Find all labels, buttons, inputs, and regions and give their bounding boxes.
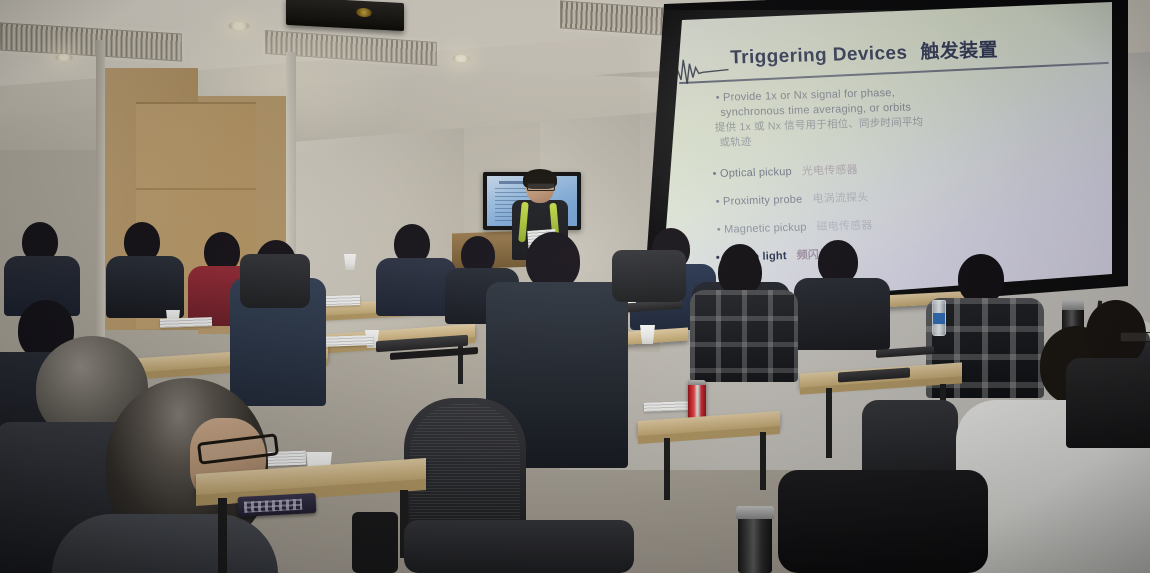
thermos-cap <box>736 506 774 519</box>
attendee-torso <box>52 514 278 573</box>
bullet-text-cn: 磁电传感器 <box>816 220 872 234</box>
wall-corner <box>96 40 105 340</box>
attendee-torso <box>1066 358 1150 448</box>
desk-leg <box>826 388 832 458</box>
paper-stack <box>160 317 212 328</box>
bullet-text: Magnetic pickup <box>724 221 807 235</box>
soda-can-top <box>688 380 706 385</box>
attendee-head <box>958 254 1004 304</box>
projector-lens-icon <box>356 8 372 18</box>
bullet-optical-pickup: • Optical pickup光电传感器 <box>712 163 858 182</box>
slide-title-en: Triggering Devices <box>730 43 908 69</box>
bullet-proximity-probe: • Proximity probe电涡流探头 <box>715 191 868 210</box>
paper-cup <box>640 325 655 344</box>
attendee-torso <box>376 258 456 316</box>
waveform-icon <box>672 53 729 89</box>
bullet-text-cn: 或轨迹 <box>719 136 752 149</box>
attendee-torso <box>794 278 890 350</box>
bullet-text-cn: 电涡流探头 <box>812 192 868 206</box>
downlight-icon <box>228 22 250 30</box>
downlight-icon <box>452 55 470 62</box>
bullet-text: Proximity probe <box>723 194 803 208</box>
door-seam <box>136 188 256 190</box>
attendee-head <box>718 248 762 296</box>
bullet-1-line-4: 或轨迹 <box>719 135 752 151</box>
thermos-flask <box>738 514 772 573</box>
glasses-icon <box>527 183 555 191</box>
glasses-icon <box>1120 332 1150 342</box>
paper-stack <box>644 401 692 412</box>
attendee-torso-plaid <box>690 290 798 382</box>
calculator-keys <box>244 499 302 513</box>
office-chair-arm <box>352 512 398 573</box>
office-chair <box>612 250 686 302</box>
slide-title-cn: 触发装置 <box>920 40 998 63</box>
desk-leg <box>218 498 227 573</box>
slide-title: Triggering Devices触发装置 <box>730 35 999 69</box>
thermos-cap <box>1062 300 1084 310</box>
desk-leg <box>664 438 670 500</box>
desk-leg <box>760 432 766 490</box>
bullet-magnetic-pickup: • Magnetic pickup磁电传感器 <box>717 219 873 238</box>
bottle-label <box>933 313 945 324</box>
office-chair <box>404 520 634 573</box>
bullet-text-cn: 光电传感器 <box>802 164 858 178</box>
paper-cup <box>344 254 356 270</box>
water-bottle <box>932 300 946 336</box>
downlight-icon <box>55 54 73 61</box>
office-chair-mesh <box>410 404 520 528</box>
classroom-photo: Triggering Devices触发装置 • Provide 1x or N… <box>0 0 1150 573</box>
attendee-torso <box>106 256 184 318</box>
bullet-text: Optical pickup <box>720 166 792 180</box>
paper-stack <box>318 335 373 347</box>
office-chair <box>240 254 310 308</box>
calculator <box>238 493 317 517</box>
bag <box>778 470 988 573</box>
